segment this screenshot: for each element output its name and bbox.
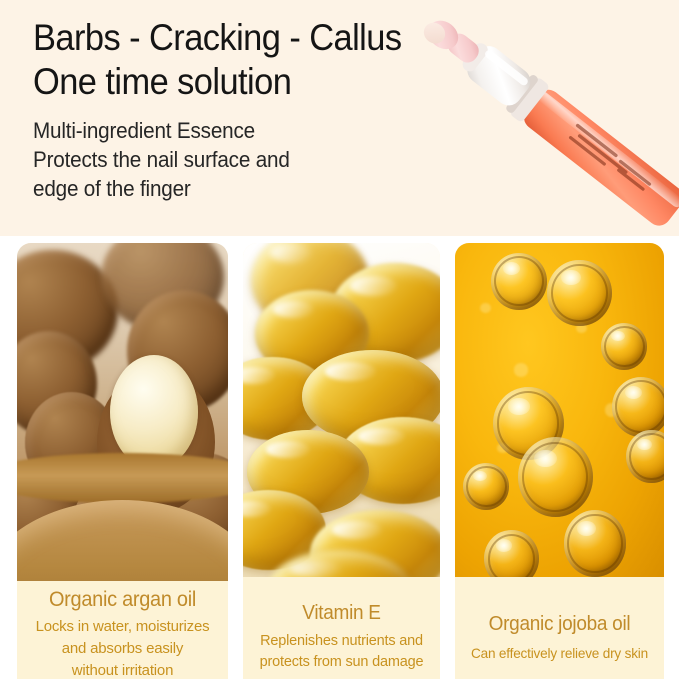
- ingredient-card-vitamin-e: Vitamin E Replenishes nutrients and prot…: [243, 243, 440, 679]
- jojoba-photo: [455, 243, 664, 577]
- product-infographic-page: Barbs - Cracking - Callus One time solut…: [0, 0, 679, 679]
- vitamin-e-desc-line-1: Replenishes nutrients and: [249, 631, 434, 652]
- vitamin-e-card-description: Replenishes nutrients and protects from …: [249, 631, 434, 673]
- jojoba-desc-line-1: Can effectively relieve dry skin: [464, 643, 655, 664]
- hero-text-block: Barbs - Cracking - Callus One time solut…: [33, 16, 553, 203]
- jojoba-card-body: Organic jojoba oil Can effectively relie…: [455, 577, 664, 679]
- argan-card-body: Organic argan oil Locks in water, moistu…: [17, 581, 228, 679]
- vitamin-e-photo: [243, 243, 440, 577]
- hero-title-line-1: Barbs - Cracking - Callus: [33, 16, 517, 60]
- argan-card-description: Locks in water, moisturizes and absorbs …: [23, 616, 222, 679]
- argan-photo: [17, 243, 228, 581]
- argan-desc-line-1: Locks in water, moisturizes: [23, 616, 222, 638]
- argan-card-title: Organic argan oil: [28, 587, 217, 613]
- ingredient-card-argan: Organic argan oil Locks in water, moistu…: [17, 243, 228, 679]
- argan-desc-line-2: and absorbs easily: [23, 638, 222, 660]
- vitamin-e-card-body: Vitamin E Replenishes nutrients and prot…: [243, 577, 440, 679]
- hero-subtitle-line-3: edge of the finger: [33, 174, 522, 203]
- jojoba-card-description: Can effectively relieve dry skin: [464, 643, 655, 664]
- ingredient-card-jojoba: Organic jojoba oil Can effectively relie…: [455, 243, 664, 679]
- argan-desc-line-3: without irritation: [23, 660, 222, 679]
- vitamin-e-desc-line-2: protects from sun damage: [249, 652, 434, 673]
- ingredient-cards-row: Organic argan oil Locks in water, moistu…: [0, 236, 679, 679]
- hero-title-line-2: One time solution: [33, 60, 517, 104]
- jojoba-card-title: Organic jojoba oil: [466, 611, 653, 637]
- hero-subtitle-line-2: Protects the nail surface and: [33, 145, 522, 174]
- hero-section: Barbs - Cracking - Callus One time solut…: [0, 0, 679, 243]
- hero-subtitle-block: Multi-ingredient Essence Protects the na…: [33, 116, 553, 203]
- hero-subtitle-line-1: Multi-ingredient Essence: [33, 116, 522, 145]
- vitamin-e-card-title: Vitamin E: [254, 600, 430, 626]
